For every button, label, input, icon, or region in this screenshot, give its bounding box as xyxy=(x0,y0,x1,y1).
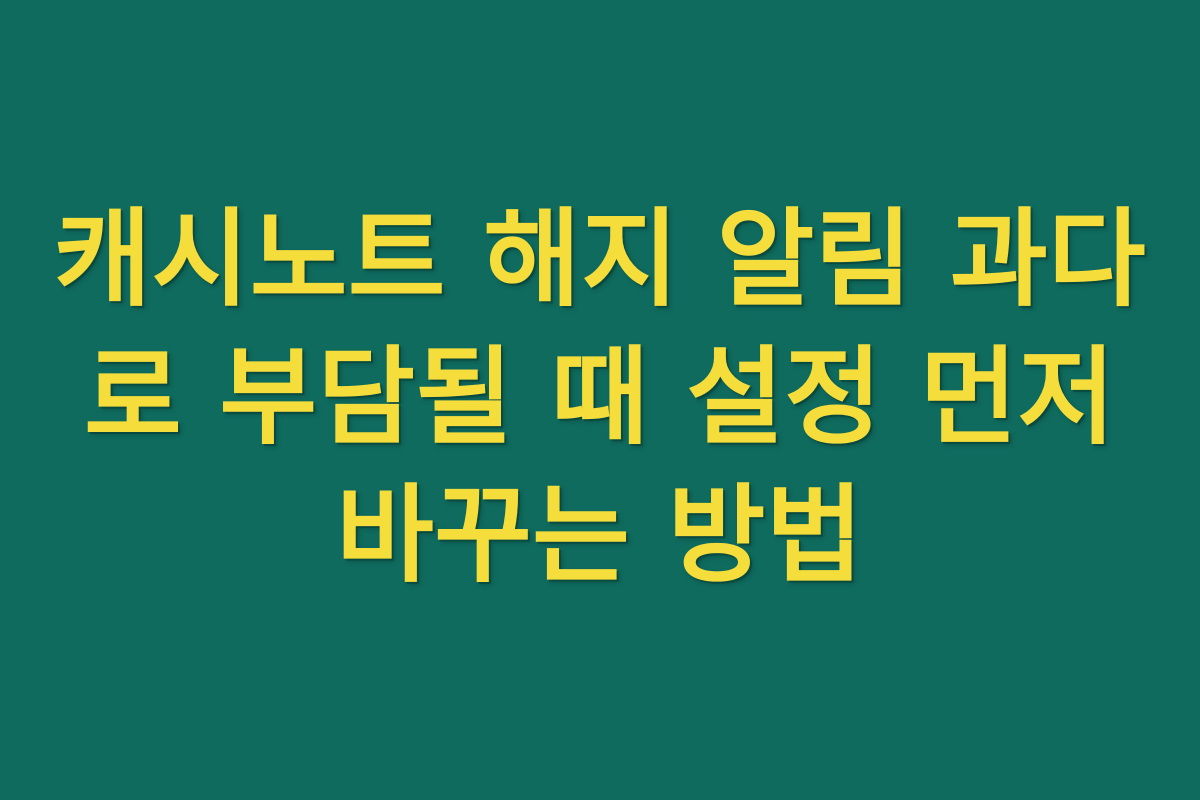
banner-canvas: 캐시노트 해지 알림 과다 로 부담될 때 설정 먼저 바꾸는 방법 xyxy=(0,0,1200,800)
banner-title-line-3: 바꾸는 방법 xyxy=(50,467,1150,605)
banner-title-line-2: 로 부담될 때 설정 먼저 xyxy=(50,329,1150,467)
banner-title: 캐시노트 해지 알림 과다 로 부담될 때 설정 먼저 바꾸는 방법 xyxy=(50,191,1150,605)
banner-title-line-1: 캐시노트 해지 알림 과다 xyxy=(50,191,1150,329)
